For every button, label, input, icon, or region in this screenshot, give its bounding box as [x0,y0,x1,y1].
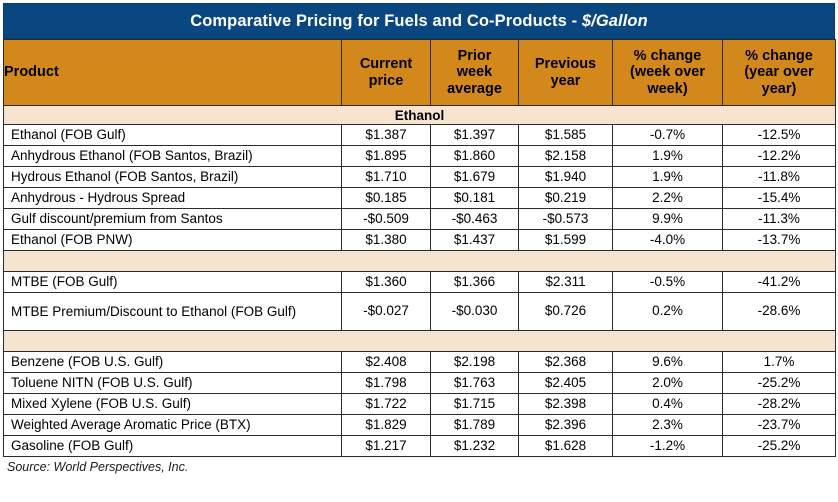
table-header: Product Current price Prior week average… [4,40,836,106]
cell-pct-change-yoy: -11.8% [723,167,836,188]
page-title-main: Comparative Pricing for Fuels and Co-Pro… [190,12,582,30]
cell-pct-change-yoy: -25.2% [723,373,836,394]
column-header-previous-year: Previous year [519,40,613,106]
cell-previous-year: $1.628 [519,436,613,457]
cell-product: MTBE (FOB Gulf) [4,272,342,293]
column-header-prior-week-average-line3: average [447,81,502,97]
cell-product: Gulf discount/premium from Santos [4,209,342,230]
cell-pct-change-yoy: -25.2% [723,436,836,457]
cell-previous-year: $1.585 [519,125,613,146]
cell-pct-change-wow: 1.9% [613,146,723,167]
page-title: Comparative Pricing for Fuels and Co-Pro… [190,12,648,31]
table-row: MTBE (FOB Gulf)$1.360$1.366$2.311-0.5%-4… [4,272,836,293]
cell-prior-week-average: -$0.463 [431,209,519,230]
cell-pct-change-yoy: -12.2% [723,146,836,167]
cell-prior-week-average: $1.860 [431,146,519,167]
cell-product: Hydrous Ethanol (FOB Santos, Brazil) [4,167,342,188]
table-row: Hydrous Ethanol (FOB Santos, Brazil)$1.7… [4,167,836,188]
cell-product: Weighted Average Aromatic Price (BTX) [4,415,342,436]
column-header-current-price: Current price [342,40,431,106]
cell-pct-change-wow: -1.2% [613,436,723,457]
cell-previous-year: -$0.573 [519,209,613,230]
column-header-yoy-line1: % change [745,48,813,64]
cell-pct-change-wow: 9.9% [613,209,723,230]
cell-current-price: $1.380 [342,230,431,251]
column-header-prior-week-average-line1: Prior [458,48,492,64]
cell-pct-change-yoy: -28.6% [723,293,836,331]
cell-product: Anhydrous Ethanol (FOB Santos, Brazil) [4,146,342,167]
cell-product: Anhydrous - Hydrous Spread [4,188,342,209]
cell-pct-change-yoy: -15.4% [723,188,836,209]
cell-previous-year: $2.311 [519,272,613,293]
table-row: Gasoline (FOB Gulf)$1.217$1.232$1.628-1.… [4,436,836,457]
cell-previous-year: $2.405 [519,373,613,394]
cell-current-price: $1.710 [342,167,431,188]
table-row: Ethanol (FOB Gulf)$1.387$1.397$1.585-0.7… [4,125,836,146]
table-row: Anhydrous - Hydrous Spread$0.185$0.181$0… [4,188,836,209]
cell-product: Benzene (FOB U.S. Gulf) [4,352,342,373]
column-header-prior-week-average-line2: week [457,64,492,80]
column-header-pct-change-week-over-week: % change (week over week) [613,40,723,106]
column-header-wow-line3: week) [647,81,687,97]
cell-prior-week-average: $2.198 [431,352,519,373]
cell-previous-year: $1.940 [519,167,613,188]
cell-previous-year: $2.368 [519,352,613,373]
cell-product: Gasoline (FOB Gulf) [4,436,342,457]
cell-prior-week-average: $1.437 [431,230,519,251]
cell-pct-change-wow: 2.3% [613,415,723,436]
cell-pct-change-yoy: -23.7% [723,415,836,436]
cell-prior-week-average: $1.232 [431,436,519,457]
section-spacer-cell [4,331,836,352]
section-spacer-row [4,331,836,352]
cell-pct-change-yoy: -11.3% [723,209,836,230]
cell-product: MTBE Premium/Discount to Ethanol (FOB Gu… [4,293,342,331]
column-header-prior-week-average: Prior week average [431,40,519,106]
cell-current-price: $1.829 [342,415,431,436]
cell-prior-week-average: $1.763 [431,373,519,394]
column-header-wow-line2: (week over [630,64,705,80]
cell-prior-week-average: $0.181 [431,188,519,209]
cell-previous-year: $0.219 [519,188,613,209]
cell-previous-year: $2.396 [519,415,613,436]
cell-current-price: $1.387 [342,125,431,146]
cell-pct-change-yoy: -12.5% [723,125,836,146]
report-page: Comparative Pricing for Fuels and Co-Pro… [0,0,838,502]
table-row: Weighted Average Aromatic Price (BTX)$1.… [4,415,836,436]
table-row: Toluene NITN (FOB U.S. Gulf)$1.798$1.763… [4,373,836,394]
cell-previous-year: $2.398 [519,394,613,415]
cell-prior-week-average: $1.397 [431,125,519,146]
cell-pct-change-yoy: -28.2% [723,394,836,415]
column-header-current-price-line2: price [369,73,404,89]
report-title-bar: Comparative Pricing for Fuels and Co-Pro… [3,3,835,39]
pricing-table: Product Current price Prior week average… [3,39,836,457]
cell-product: Toluene NITN (FOB U.S. Gulf) [4,373,342,394]
cell-prior-week-average: -$0.030 [431,293,519,331]
column-header-previous-year-line2: year [551,73,581,89]
column-header-pct-change-year-over-year: % change (year over year) [723,40,836,106]
page-title-units: $/Gallon [582,12,648,30]
cell-current-price: $1.798 [342,373,431,394]
cell-product: Mixed Xylene (FOB U.S. Gulf) [4,394,342,415]
cell-prior-week-average: $1.679 [431,167,519,188]
cell-previous-year: $2.158 [519,146,613,167]
cell-previous-year: $1.599 [519,230,613,251]
source-note: Source: World Perspectives, Inc. [3,460,835,474]
table-row: Gulf discount/premium from Santos-$0.509… [4,209,836,230]
cell-pct-change-wow: 1.9% [613,167,723,188]
cell-current-price: $1.217 [342,436,431,457]
cell-pct-change-wow: 2.2% [613,188,723,209]
cell-pct-change-yoy: -13.7% [723,230,836,251]
table-row: Anhydrous Ethanol (FOB Santos, Brazil)$1… [4,146,836,167]
column-header-yoy-line2: (year over [744,64,813,80]
cell-prior-week-average: $1.789 [431,415,519,436]
table-body: EthanolEthanol (FOB Gulf)$1.387$1.397$1.… [4,106,836,457]
cell-previous-year: $0.726 [519,293,613,331]
cell-product: Ethanol (FOB PNW) [4,230,342,251]
cell-current-price: -$0.509 [342,209,431,230]
cell-pct-change-wow: -0.5% [613,272,723,293]
cell-pct-change-wow: -0.7% [613,125,723,146]
cell-current-price: $1.895 [342,146,431,167]
section-header-row: Ethanol [4,106,836,125]
section-spacer-row [4,251,836,272]
cell-current-price: $1.722 [342,394,431,415]
cell-prior-week-average: $1.715 [431,394,519,415]
table-row: Benzene (FOB U.S. Gulf)$2.408$2.198$2.36… [4,352,836,373]
cell-pct-change-yoy: -41.2% [723,272,836,293]
cell-pct-change-wow: 2.0% [613,373,723,394]
section-spacer-cell [4,251,836,272]
cell-prior-week-average: $1.366 [431,272,519,293]
cell-pct-change-wow: 0.2% [613,293,723,331]
column-header-yoy-line3: year) [762,81,797,97]
column-header-previous-year-line1: Previous [535,56,596,72]
cell-pct-change-yoy: 1.7% [723,352,836,373]
table-row: MTBE Premium/Discount to Ethanol (FOB Gu… [4,293,836,331]
cell-pct-change-wow: 0.4% [613,394,723,415]
cell-current-price: -$0.027 [342,293,431,331]
cell-current-price: $1.360 [342,272,431,293]
cell-pct-change-wow: -4.0% [613,230,723,251]
column-header-product-line1: Product [4,64,59,80]
column-header-product: Product [4,40,342,106]
column-header-current-price-line1: Current [360,56,412,72]
cell-current-price: $2.408 [342,352,431,373]
column-header-wow-line1: % change [634,48,702,64]
table-header-row: Product Current price Prior week average… [4,40,836,106]
cell-product: Ethanol (FOB Gulf) [4,125,342,146]
cell-current-price: $0.185 [342,188,431,209]
table-row: Ethanol (FOB PNW)$1.380$1.437$1.599-4.0%… [4,230,836,251]
section-header-label: Ethanol [4,106,836,125]
table-row: Mixed Xylene (FOB U.S. Gulf)$1.722$1.715… [4,394,836,415]
cell-pct-change-wow: 9.6% [613,352,723,373]
